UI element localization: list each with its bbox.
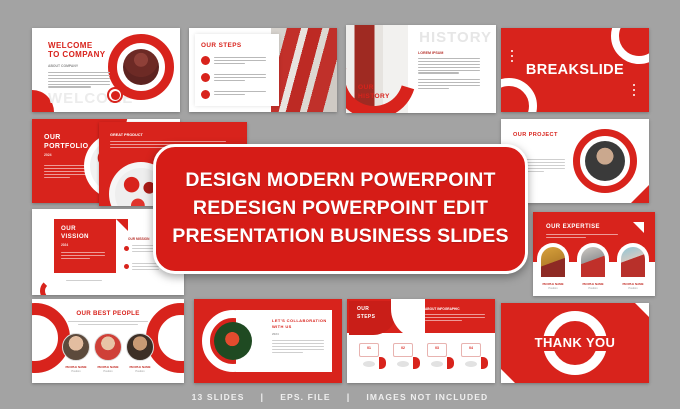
member-role: Position: [613, 287, 653, 290]
member-name: PEOPLE NAME: [533, 282, 573, 286]
step-number: 03: [427, 346, 447, 350]
footer-caption-lines: [66, 280, 102, 281]
slide-card-welcome[interactable]: WELCOME WELCOME TO COMPANY About Company: [32, 28, 180, 112]
member-name: PEOPLE NAME: [613, 282, 653, 286]
corner-accent-top-right: [635, 303, 649, 317]
promo-line-2: REDESIGN POWERPOINT EDIT: [193, 196, 488, 222]
history-title-line1: OUR: [358, 84, 374, 91]
slide-card-our-steps[interactable]: OUR STEPS: [189, 28, 337, 112]
red-arc-accent: [40, 279, 64, 295]
history-body-lines-2: [418, 79, 480, 89]
vission-title-line1: OUR: [61, 226, 76, 233]
slide-card-thank-you[interactable]: THANK YOU: [501, 303, 649, 383]
welcome-subtitle: About Company: [48, 64, 78, 68]
slide-card-our-history[interactable]: HISTORY OUR HISTORY LOREM IPSUM: [346, 25, 496, 113]
steps-title-line2: STEPS: [357, 315, 375, 321]
our-steps-title: OUR STEPS: [201, 42, 242, 49]
portfolio-title-line2: PORTFOLIO: [44, 143, 88, 151]
promo-line-1: DESIGN MODERN POWERPOINT: [185, 168, 495, 194]
collaboration-photo: [214, 322, 252, 360]
slide-card-our-best-people[interactable]: OUR BEST PEOPLE PEOPLE NAME Position PEO…: [32, 299, 184, 383]
white-divider-arc: [391, 299, 425, 339]
steps-title-line1: OUR: [357, 307, 369, 313]
red-triangle-accent: [116, 219, 128, 231]
slide-card-breakslide[interactable]: BREAKSLIDE: [501, 28, 649, 112]
promo-banner: DESIGN MODERN POWERPOINT REDESIGN POWERP…: [153, 144, 528, 274]
dot-grid-left: [511, 50, 513, 62]
our-project-title: OUR PROJECT: [513, 132, 558, 138]
corner-accent-bottom-left: [501, 369, 515, 383]
portfolio-title-line1: OUR: [44, 134, 61, 142]
member-name: PEOPLE NAME: [119, 365, 161, 369]
best-people-title: OUR BEST PEOPLE: [32, 310, 184, 317]
promo-line-3: PRESENTATION BUSINESS SLIDES: [172, 224, 508, 250]
expertise-body-lines: [546, 234, 618, 238]
footer-images-notice: IMAGES NOT INCLUDED: [366, 392, 488, 402]
history-watermark: HISTORY: [419, 29, 492, 46]
steps-body-lines: [425, 314, 485, 321]
decor-arc-bottom-left: [501, 78, 537, 112]
great-product-title: GREAT PRODUCT: [110, 133, 143, 137]
member-role: Position: [533, 287, 573, 290]
best-people-body-lines: [68, 321, 148, 325]
slide-card-collaboration[interactable]: LET'S COLLABORATION WITH US 2024: [194, 299, 342, 383]
history-title-line2: HISTORY: [358, 93, 390, 100]
step-number: 04: [461, 346, 481, 350]
steps-body-heading: About Infographic: [425, 307, 460, 311]
expertise-title: OUR EXPERTISE: [546, 224, 600, 231]
dot-grid-right: [633, 84, 635, 96]
portfolio-subtitle: 2024: [44, 153, 52, 157]
welcome-title-line2: TO COMPANY: [48, 51, 105, 60]
slide-gallery: WELCOME WELCOME TO COMPANY About Company…: [0, 0, 680, 409]
slide-card-our-expertise[interactable]: OUR EXPERTISE PEOPLE NAME Position PEOPL…: [533, 212, 655, 296]
footer-separator: |: [261, 392, 265, 402]
phone-booth-photo: [271, 28, 337, 112]
history-body-heading: LOREM IPSUM: [418, 51, 443, 55]
logo-badge-inner: [111, 91, 120, 100]
member-name: PEOPLE NAME: [573, 282, 613, 286]
vission-body-lines: [61, 252, 105, 259]
project-person-photo: [585, 141, 625, 181]
footer-slide-count: 13 SLIDES: [192, 392, 245, 402]
vission-subtitle: 2024: [61, 243, 68, 247]
footer-file-type: EPS. FILE: [280, 392, 331, 402]
flag-accent: [633, 222, 644, 233]
breakslide-title: BREAKSLIDE: [501, 62, 649, 78]
step-number: 01: [359, 346, 379, 350]
welcome-body-lines: [48, 72, 110, 88]
history-body-lines: [418, 58, 480, 74]
decor-arc-top-right: [611, 28, 649, 64]
vission-title-line2: VISSION: [61, 234, 89, 241]
thank-you-title: THANK YOU: [501, 335, 649, 350]
member-role: Position: [119, 370, 161, 373]
step-number: 02: [393, 346, 413, 350]
footer-separator: |: [347, 392, 351, 402]
footer-bar: 13 SLIDES | EPS. FILE | IMAGES NOT INCLU…: [0, 392, 680, 402]
red-corner-accent: [631, 185, 649, 203]
member-role: Position: [573, 287, 613, 290]
slide-card-steps-infographic[interactable]: OUR STEPS About Infographic 01 02 03 04: [347, 299, 495, 383]
vission-body-heading: Our Mission: [128, 237, 149, 241]
collaboration-body-lines: [272, 340, 324, 353]
collaboration-title-line2: WITH US: [272, 325, 292, 329]
collaboration-title-line1: LET'S COLLABORATION: [272, 319, 327, 323]
hoodie-photo: [123, 49, 159, 85]
collaboration-subtitle: 2024: [272, 332, 279, 336]
portfolio-body-lines: [44, 165, 86, 178]
